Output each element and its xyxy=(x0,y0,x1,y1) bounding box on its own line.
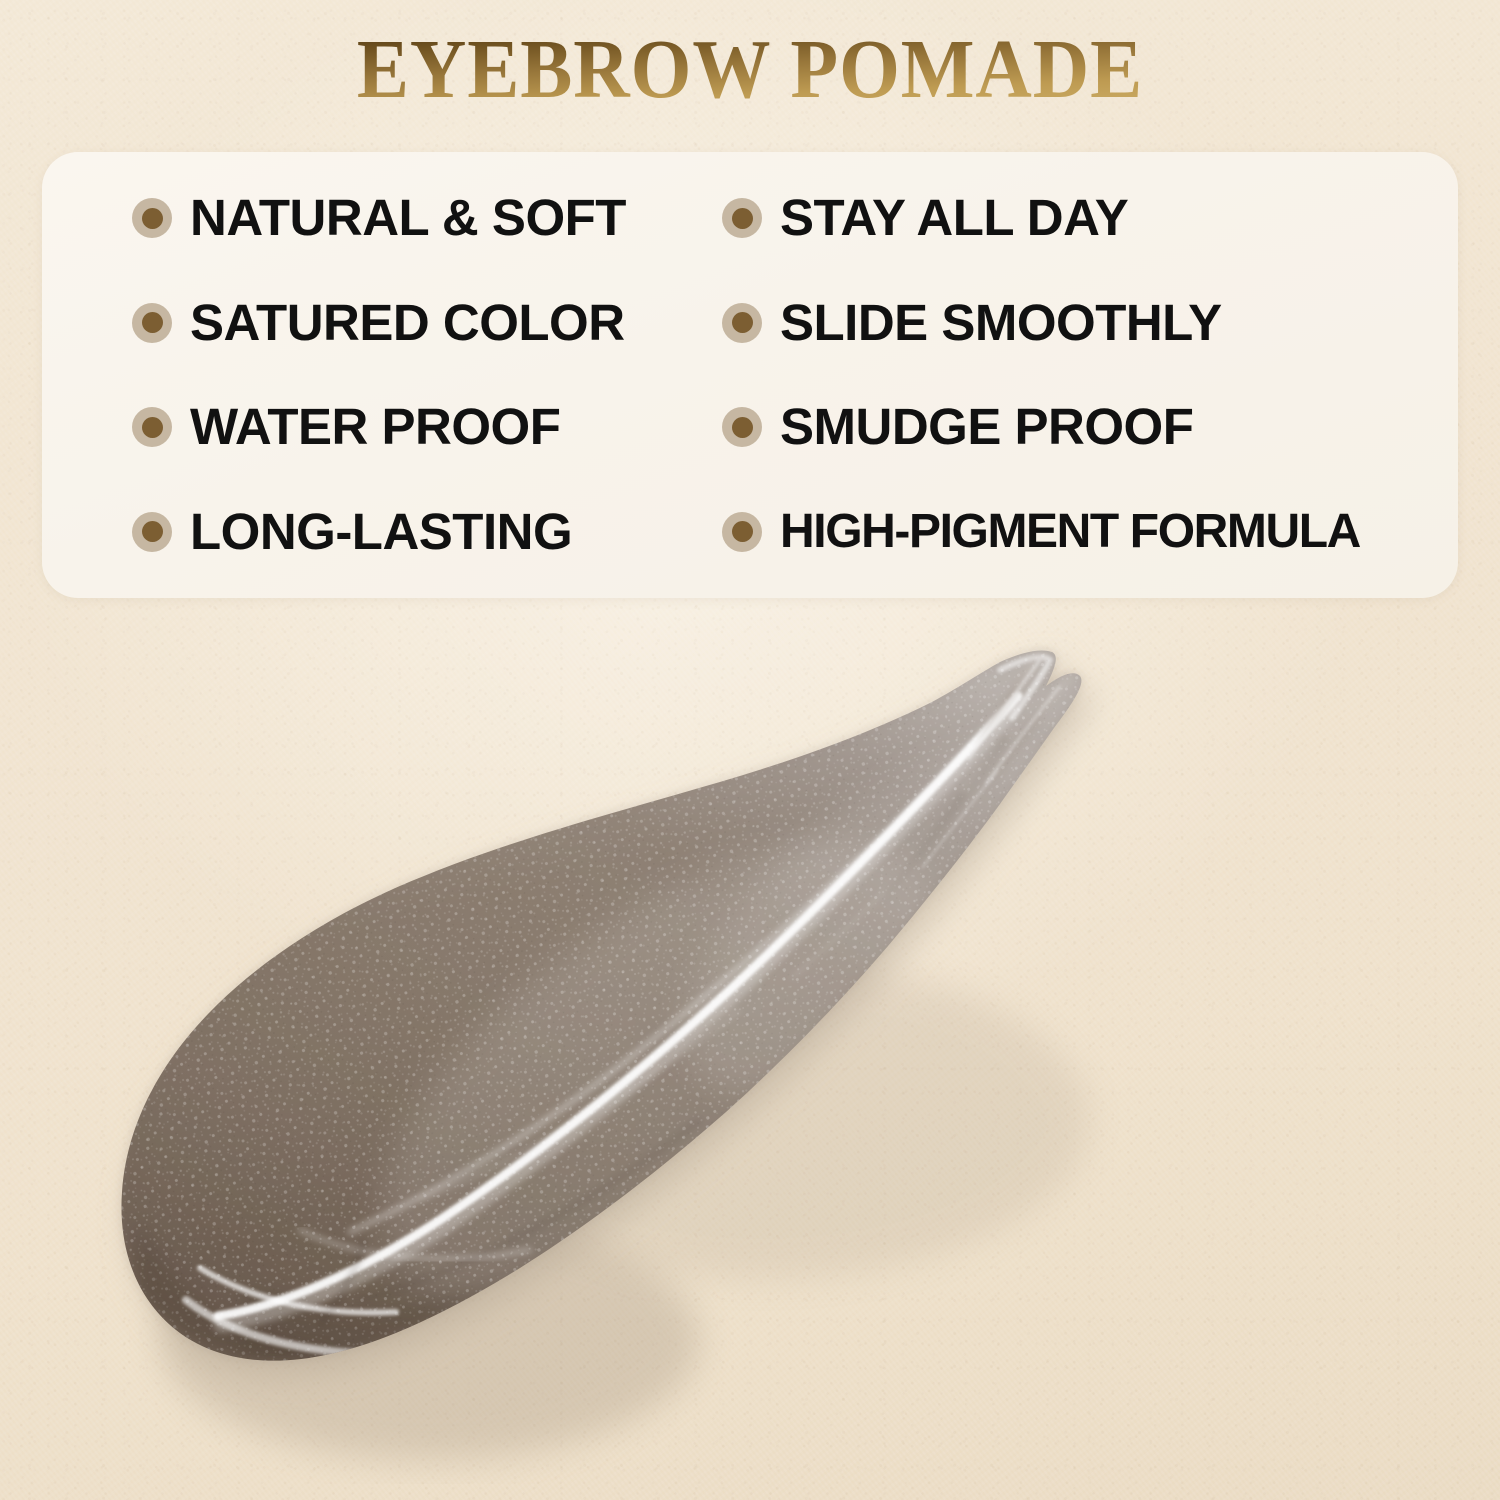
feature-label: SMUDGE PROOF xyxy=(780,400,1193,454)
feature-label: WATER PROOF xyxy=(190,400,560,454)
product-swatch xyxy=(0,600,1500,1500)
bullet-dot-icon xyxy=(722,303,762,343)
bullet-dot-icon xyxy=(722,407,762,447)
feature-label: LONG-LASTING xyxy=(190,505,572,559)
feature-list: NATURAL & SOFT STAY ALL DAY SATURED COLO… xyxy=(42,152,1458,598)
feature-label: STAY ALL DAY xyxy=(780,191,1128,245)
bullet-dot-icon xyxy=(132,407,172,447)
pomade-smear-illustration xyxy=(0,600,1500,1500)
bullet-dot-icon xyxy=(722,512,762,552)
feature-item-long-lasting: LONG-LASTING xyxy=(42,505,640,559)
feature-item-water-proof: WATER PROOF xyxy=(42,400,640,454)
product-banner: EYEBROW POMADE NATURAL & SOFT STAY ALL D… xyxy=(0,0,1500,1500)
feature-item-natural-and-soft: NATURAL & SOFT xyxy=(42,191,640,245)
bullet-dot-icon xyxy=(722,198,762,238)
bullet-dot-icon xyxy=(132,303,172,343)
feature-label: SATURED COLOR xyxy=(190,296,625,350)
bullet-dot-icon xyxy=(132,198,172,238)
feature-item-satured-color: SATURED COLOR xyxy=(42,296,640,350)
feature-item-high-pigment-formula: HIGH-PIGMENT FORMULA xyxy=(640,505,1458,559)
page-title: EYEBROW POMADE xyxy=(53,28,1448,112)
feature-item-smudge-proof: SMUDGE PROOF xyxy=(640,400,1458,454)
feature-label: NATURAL & SOFT xyxy=(190,191,626,245)
feature-card: NATURAL & SOFT STAY ALL DAY SATURED COLO… xyxy=(42,152,1458,598)
feature-item-slide-smoothly: SLIDE SMOOTHLY xyxy=(640,296,1458,350)
feature-label: HIGH-PIGMENT FORMULA xyxy=(780,505,1360,559)
feature-item-stay-all-day: STAY ALL DAY xyxy=(640,191,1458,245)
bullet-dot-icon xyxy=(132,512,172,552)
feature-label: SLIDE SMOOTHLY xyxy=(780,296,1222,350)
